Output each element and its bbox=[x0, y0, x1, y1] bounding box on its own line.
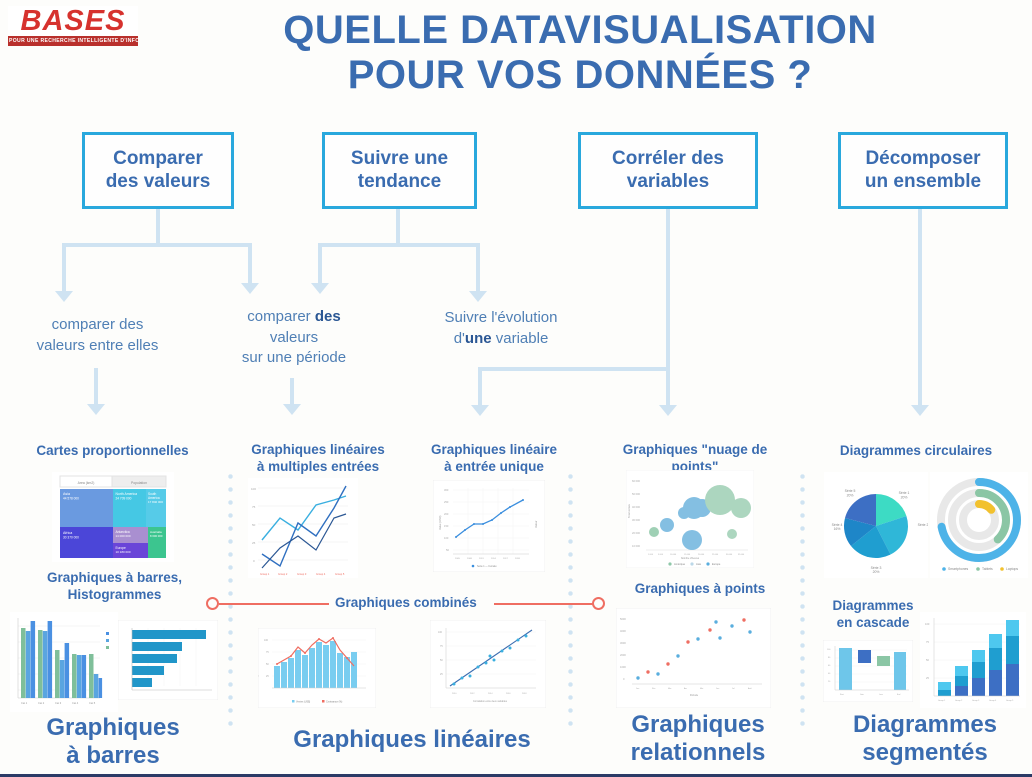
svg-text:35 000: 35 000 bbox=[738, 554, 745, 556]
svg-text:Value (USD): Value (USD) bbox=[438, 515, 442, 530]
svg-text:Europe: Europe bbox=[712, 562, 721, 566]
svg-text:Loss: Loss bbox=[879, 694, 883, 696]
svg-text:Population: Population bbox=[131, 481, 147, 485]
desc-compare-between-line1: comparer des bbox=[52, 316, 144, 333]
svg-text:10 180 000: 10 180 000 bbox=[116, 550, 131, 554]
svg-text:Group 3: Group 3 bbox=[297, 572, 307, 576]
label-multiline-l1: Graphiques linéaires bbox=[251, 442, 385, 457]
connector-decomposer-stem bbox=[918, 209, 922, 407]
desc-compare-period-line2: valeurs bbox=[270, 329, 318, 346]
svg-text:30 370 000: 30 370 000 bbox=[63, 536, 79, 540]
connector-suivre-stem bbox=[396, 209, 400, 245]
thumb-bubble[interactable]: 60 00050 00040 000 30 00020 00010 000 To… bbox=[626, 470, 754, 568]
svg-text:Group 2: Group 2 bbox=[278, 572, 288, 576]
label-singleline-l1: Graphiques linéaire bbox=[431, 442, 557, 457]
footer-rel-l2: relationnels bbox=[631, 739, 766, 766]
arrow-comparer-left bbox=[55, 291, 73, 302]
svg-text:Cat 5: Cat 5 bbox=[89, 701, 96, 705]
label-singleline: Graphiques linéaire à entrée unique bbox=[412, 442, 576, 476]
svg-text:100: 100 bbox=[264, 639, 269, 642]
arrow-decomposer bbox=[911, 405, 929, 416]
category-box-decomposer[interactable]: Décomposer un ensemble bbox=[838, 132, 1008, 209]
connector-correler-right bbox=[666, 367, 670, 407]
svg-text:60 000: 60 000 bbox=[632, 479, 640, 483]
svg-text:Start: Start bbox=[840, 693, 844, 696]
svg-text:20%: 20% bbox=[873, 570, 880, 574]
svg-text:2011: 2011 bbox=[479, 558, 484, 560]
svg-text:Area (km2): Area (km2) bbox=[78, 481, 95, 485]
label-waterfall-l1: Diagrammes bbox=[832, 598, 913, 613]
svg-text:Série 2: Série 2 bbox=[918, 523, 928, 527]
svg-text:Group 2: Group 2 bbox=[955, 700, 963, 702]
svg-text:Avr: Avr bbox=[684, 687, 687, 690]
svg-text:25 000: 25 000 bbox=[712, 554, 719, 556]
svg-text:Asie: Asie bbox=[696, 562, 702, 566]
connector-comparer-stem bbox=[156, 209, 160, 245]
svg-text:Série 5: Série 5 bbox=[845, 489, 856, 493]
svg-text:300: 300 bbox=[444, 488, 449, 492]
svg-text:10 000: 10 000 bbox=[670, 554, 677, 556]
svg-text:Laptops: Laptops bbox=[1006, 567, 1018, 571]
thumb-stacked-bar[interactable]: 10075 5025 Group 1Group 2 Group 3Group 4… bbox=[920, 612, 1026, 708]
combo-line-right bbox=[494, 603, 594, 605]
desc-follow-bold: une bbox=[465, 330, 492, 347]
thumb-single-line[interactable]: 300250200 15010050 Value (USD) Valeur 20… bbox=[433, 480, 545, 572]
infographic-canvas: BASES POUR UNE RECHERCHE INTELLIGENTE D'… bbox=[0, 0, 1032, 777]
svg-text:16%: 16% bbox=[834, 527, 841, 531]
thumb-treemap[interactable]: Area (km2) Population Asia 44 578 000 Af… bbox=[52, 472, 174, 562]
svg-text:50 000: 50 000 bbox=[632, 492, 640, 496]
svg-text:Cat 2: Cat 2 bbox=[38, 701, 45, 705]
svg-text:Jun: Jun bbox=[716, 688, 719, 690]
page-title-line1: QUELLE DATAVISUALISATION bbox=[283, 8, 876, 52]
desc-compare-between-line2: valeurs entre elles bbox=[37, 337, 159, 354]
connector-correler-stem bbox=[666, 209, 670, 371]
svg-text:20 000: 20 000 bbox=[632, 531, 640, 535]
svg-text:Aoû: Aoû bbox=[748, 687, 752, 690]
arrow-suivre-left bbox=[311, 283, 329, 294]
footer-label-line-charts: Graphiques linéaires bbox=[272, 726, 552, 754]
combo-endpoint-right[interactable] bbox=[592, 597, 605, 610]
thumb-waterfall[interactable]: 1008060 4020 StartGain LossEnd bbox=[823, 640, 913, 702]
svg-text:2017: 2017 bbox=[503, 558, 509, 560]
combo-endpoint-left[interactable] bbox=[206, 597, 219, 610]
svg-text:Nombre d'heures: Nombre d'heures bbox=[681, 557, 700, 560]
footer-label-relational: Graphiques segmentés relationnels bbox=[608, 711, 788, 766]
connector-suivre-left bbox=[318, 243, 322, 285]
svg-text:24 709 000: 24 709 000 bbox=[116, 497, 132, 501]
svg-text:50: 50 bbox=[252, 523, 256, 527]
svg-text:100: 100 bbox=[444, 536, 449, 540]
thumb-combo-area-bar[interactable]: Jan 100755025 Ventes (US$) Croissance (%… bbox=[258, 628, 376, 708]
svg-text:30 000: 30 000 bbox=[726, 554, 733, 556]
svg-text:150: 150 bbox=[444, 524, 449, 528]
label-bubble-l1: Graphiques "nuage de bbox=[623, 442, 767, 457]
label-bar-histogram: Graphiques à barres, Histogrammes bbox=[12, 570, 217, 604]
svg-text:20%: 20% bbox=[901, 496, 908, 500]
page-title-line2: POUR VOS DONNÉES ? bbox=[140, 53, 1020, 98]
connector-desc1-down bbox=[94, 368, 98, 406]
svg-text:20%: 20% bbox=[847, 494, 854, 498]
svg-text:Amérique: Amérique bbox=[674, 562, 686, 566]
category-comparer-line1: Comparer bbox=[113, 148, 203, 169]
combo-label: Graphiques combinés bbox=[329, 595, 483, 610]
svg-text:Période: Période bbox=[690, 694, 699, 697]
svg-text:25: 25 bbox=[252, 541, 256, 545]
label-dot-scatter: Graphiques à points bbox=[612, 581, 788, 598]
svg-text:2000: 2000 bbox=[620, 653, 626, 657]
svg-text:Cat 4: Cat 4 bbox=[72, 701, 79, 705]
thumb-trend-scatter[interactable]: 100755025 201020122014 20162018 Corrélat… bbox=[430, 620, 546, 708]
arrow-correler-left bbox=[471, 405, 489, 416]
label-waterfall: Diagrammes en cascade bbox=[818, 598, 928, 632]
svg-text:3000: 3000 bbox=[620, 641, 626, 645]
svg-text:End: End bbox=[897, 694, 900, 696]
svg-text:20 000: 20 000 bbox=[698, 554, 705, 556]
category-comparer-line2: des valeurs bbox=[106, 171, 211, 192]
svg-text:Africa: Africa bbox=[63, 531, 72, 535]
svg-text:30 000: 30 000 bbox=[632, 518, 640, 522]
category-decomposer-line2: un ensemble bbox=[865, 171, 981, 192]
svg-text:Group 1: Group 1 bbox=[260, 572, 270, 576]
svg-text:2014: 2014 bbox=[491, 558, 497, 560]
footer-seg-l2: segmentés bbox=[862, 739, 987, 766]
svg-text:Total ventes: Total ventes bbox=[627, 503, 631, 518]
connector-desc2-down bbox=[290, 378, 294, 406]
svg-text:15 000: 15 000 bbox=[684, 554, 691, 556]
column-divider-2 bbox=[568, 470, 573, 730]
svg-text:Cat 3: Cat 3 bbox=[55, 701, 62, 705]
svg-text:100: 100 bbox=[925, 622, 930, 626]
footer-bar-l1: Graphiques bbox=[46, 714, 179, 741]
label-multiline-l2: à multiples entrées bbox=[257, 459, 379, 474]
svg-text:Ventes (US$): Ventes (US$) bbox=[296, 701, 310, 704]
label-bar-histogram-l1: Graphiques à barres, bbox=[47, 570, 182, 585]
category-box-correler[interactable]: Corréler des variables bbox=[578, 132, 758, 209]
svg-text:200: 200 bbox=[444, 512, 449, 516]
footer-rel-l1: Graphiques bbox=[631, 711, 764, 738]
description-compare-between: comparer des valeurs entre elles bbox=[10, 315, 185, 356]
logo-wordmark: BASES bbox=[8, 6, 138, 36]
category-box-suivre[interactable]: Suivre une tendance bbox=[322, 132, 477, 209]
svg-text:Group 1: Group 1 bbox=[938, 700, 946, 702]
footer-line-l1: Graphiques linéaires bbox=[293, 726, 530, 753]
category-decomposer-line1: Décomposer bbox=[865, 148, 980, 169]
thumb-multi-line[interactable]: 10075 50250 Group 1Group 2 Group 3Group … bbox=[248, 478, 358, 578]
svg-text:Group 5: Group 5 bbox=[335, 572, 345, 576]
category-correler-line1: Corréler des bbox=[612, 148, 724, 169]
desc-follow-line2c: variable bbox=[492, 330, 549, 347]
svg-text:100: 100 bbox=[251, 487, 256, 491]
svg-text:10 000: 10 000 bbox=[632, 544, 640, 548]
logo-tagline: POUR UNE RECHERCHE INTELLIGENTE D'INFORM… bbox=[8, 36, 138, 46]
svg-text:Mai: Mai bbox=[700, 688, 704, 690]
svg-text:Smartphones: Smartphones bbox=[948, 567, 968, 571]
svg-text:Croissance (%): Croissance (%) bbox=[326, 701, 343, 704]
connector-correler-split bbox=[478, 367, 670, 371]
connector-comparer-split bbox=[62, 243, 252, 247]
svg-text:Fév: Fév bbox=[652, 688, 655, 690]
category-correler-line2: variables bbox=[627, 171, 709, 192]
svg-text:Group 4: Group 4 bbox=[989, 700, 997, 702]
thumb-horizontal-bar[interactable] bbox=[118, 620, 218, 700]
svg-text:44 578 000: 44 578 000 bbox=[63, 497, 79, 501]
arrow-desc2 bbox=[283, 404, 301, 415]
desc-follow-line1: Suivre l'évolution bbox=[445, 309, 558, 326]
category-suivre-line1: Suivre une bbox=[351, 148, 448, 169]
footer-label-bar-charts: Graphiques à barres bbox=[18, 714, 208, 769]
page-title: QUELLE DATAVISUALISATION POUR VOS DONNÉE… bbox=[140, 8, 1020, 98]
svg-text:2005: 2005 bbox=[455, 558, 461, 560]
label-treemap: Cartes proportionnelles bbox=[10, 443, 215, 460]
description-follow-variable: Suivre l'évolution d'une variable bbox=[405, 308, 597, 349]
connector-suivre-right bbox=[476, 243, 480, 293]
svg-text:Group 5: Group 5 bbox=[1006, 700, 1014, 702]
arrow-correler-right bbox=[659, 405, 677, 416]
svg-text:2008: 2008 bbox=[467, 558, 473, 560]
svg-text:Série 1 — Cumulé: Série 1 — Cumulé bbox=[477, 565, 497, 568]
label-pie: Diagrammes circulaires bbox=[818, 443, 1014, 460]
desc-compare-period-line1a: comparer bbox=[247, 308, 315, 325]
thumb-pie[interactable]: Série 120% Série 2 Série 320% Série 416%… bbox=[824, 472, 928, 578]
arrow-suivre-right bbox=[469, 291, 487, 302]
connector-comparer-right bbox=[248, 243, 252, 285]
category-box-comparer[interactable]: Comparer des valeurs bbox=[82, 132, 234, 209]
svg-text:Mar: Mar bbox=[668, 688, 672, 690]
footer-label-segmented: Diagrammes segmentés bbox=[830, 711, 1020, 766]
svg-text:Gain: Gain bbox=[860, 694, 864, 696]
svg-text:1000: 1000 bbox=[620, 665, 626, 669]
svg-text:North America: North America bbox=[116, 492, 138, 496]
connector-suivre-split bbox=[318, 243, 480, 247]
svg-text:Group 4: Group 4 bbox=[316, 572, 326, 576]
svg-text:100: 100 bbox=[438, 631, 443, 634]
svg-text:Jan: Jan bbox=[636, 688, 639, 690]
connector-comparer-left bbox=[62, 243, 66, 293]
category-suivre-line2: tendance bbox=[358, 171, 441, 192]
thumb-grouped-bar[interactable]: Cat 1Cat 2 Cat 3Cat 4 Cat 5 bbox=[10, 612, 118, 712]
svg-text:2018: 2018 bbox=[515, 558, 521, 560]
desc-compare-period-bold: des bbox=[315, 308, 341, 325]
svg-text:Asia: Asia bbox=[63, 492, 70, 496]
svg-text:14 000 000: 14 000 000 bbox=[116, 534, 131, 538]
desc-compare-period-line3: sur une période bbox=[242, 349, 346, 366]
thumb-radial-donut[interactable]: Smartphones Tablets Laptops bbox=[930, 472, 1028, 578]
description-compare-period: comparer des valeurs sur une période bbox=[208, 307, 380, 369]
svg-text:Corrélation entre deux variabl: Corrélation entre deux variables bbox=[473, 700, 508, 703]
svg-text:5 000: 5 000 bbox=[658, 554, 664, 556]
bases-logo: BASES POUR UNE RECHERCHE INTELLIGENTE D'… bbox=[8, 6, 138, 46]
label-singleline-l2: à entrée unique bbox=[444, 459, 544, 474]
svg-text:Valeur: Valeur bbox=[534, 521, 538, 528]
footer-bar-l2: à barres bbox=[66, 742, 159, 769]
arrow-desc1 bbox=[87, 404, 105, 415]
svg-text:75: 75 bbox=[252, 505, 256, 509]
label-bar-histogram-l2: Histogrammes bbox=[68, 587, 162, 602]
svg-text:8 600 000: 8 600 000 bbox=[150, 534, 163, 538]
column-divider-3 bbox=[800, 470, 805, 730]
connector-correler-left bbox=[478, 367, 482, 407]
svg-text:Cat 1: Cat 1 bbox=[21, 701, 28, 705]
svg-text:17 840 000: 17 840 000 bbox=[148, 500, 163, 504]
svg-text:Tablets: Tablets bbox=[982, 567, 993, 571]
svg-text:Série 1: Série 1 bbox=[899, 491, 910, 495]
label-multiline: Graphiques linéaires à multiples entrées bbox=[232, 442, 404, 476]
arrow-comparer-right bbox=[241, 283, 259, 294]
svg-text:4000: 4000 bbox=[620, 629, 626, 633]
desc-follow-line2a: d' bbox=[454, 330, 465, 347]
svg-text:1 000: 1 000 bbox=[648, 554, 654, 556]
combo-line-left bbox=[219, 603, 329, 605]
label-waterfall-l2: en cascade bbox=[837, 615, 910, 630]
thumb-dot-scatter[interactable]: 500040003000 200010000 JanFévMar bbox=[616, 608, 771, 708]
column-divider-1 bbox=[228, 470, 233, 730]
svg-text:250: 250 bbox=[444, 500, 449, 504]
svg-text:Group 3: Group 3 bbox=[972, 700, 980, 702]
footer-seg-l1: Diagrammes bbox=[853, 711, 997, 738]
svg-text:5000: 5000 bbox=[620, 617, 626, 621]
svg-text:40 000: 40 000 bbox=[632, 505, 640, 509]
